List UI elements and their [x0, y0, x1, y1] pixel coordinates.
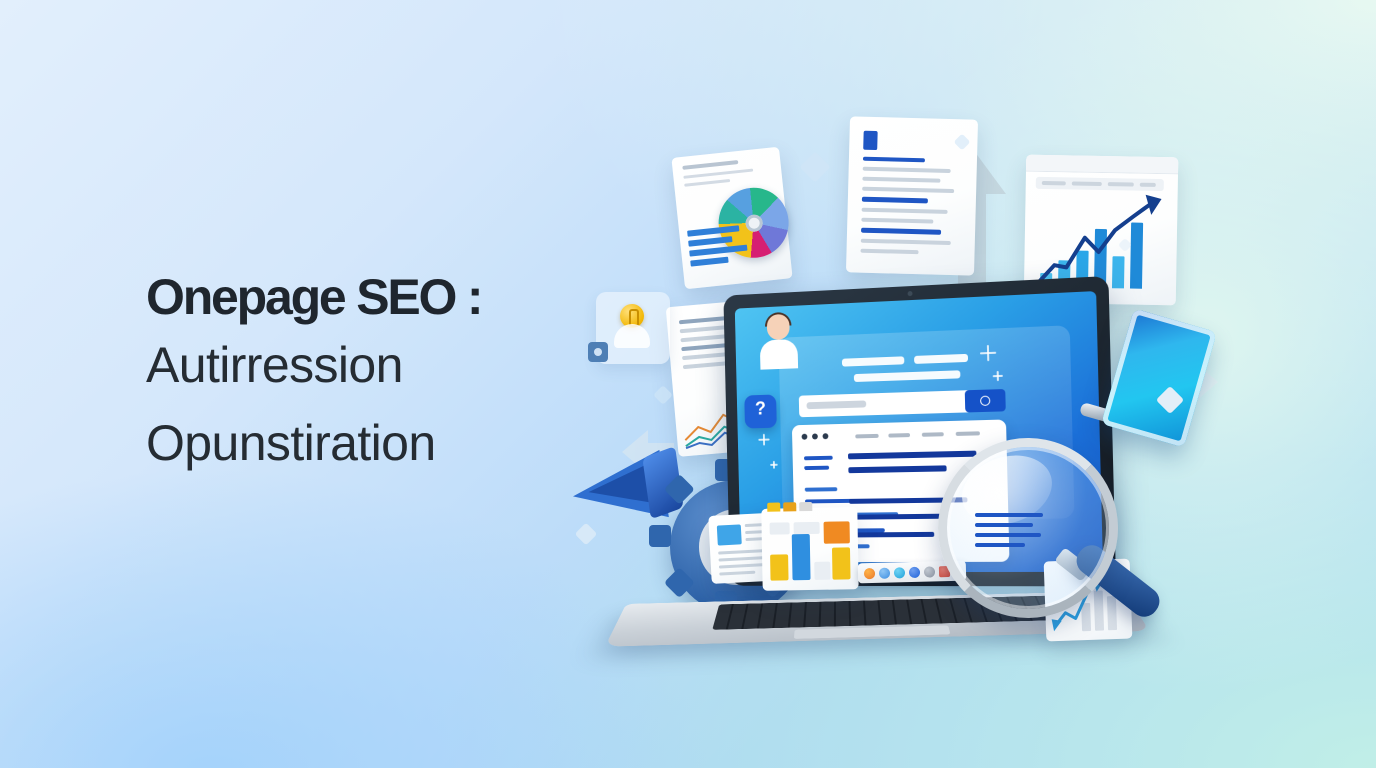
seo-banner: Onepage SEO : Autirression Opunstiration [0, 0, 1376, 768]
sparkle-icon [980, 345, 997, 362]
search-button[interactable] [965, 389, 1006, 413]
pie-chart-document [671, 147, 792, 290]
window-dots [802, 433, 829, 440]
sparkle-icon [993, 371, 1003, 381]
magnifier-lens [938, 438, 1118, 618]
chrome-icon[interactable] [879, 567, 890, 578]
trackpad[interactable] [794, 625, 951, 639]
edge-icon[interactable] [894, 567, 905, 578]
sparkle-icon [758, 434, 770, 446]
app-icon[interactable] [924, 566, 935, 577]
sparkle-icon [770, 461, 778, 469]
headline-line-2: Autirression [146, 326, 666, 404]
document-bars [687, 225, 749, 271]
magnified-lines [975, 513, 1047, 553]
webcam-icon [907, 291, 912, 296]
palette-tabs [767, 502, 812, 512]
diamond-icon [799, 151, 830, 182]
question-badge-icon [744, 394, 777, 428]
headline-block: Onepage SEO : Autirression Opunstiration [146, 268, 666, 482]
magnifying-glass-icon [938, 438, 1168, 668]
headline-line-1: Onepage SEO : [146, 268, 666, 326]
headline-line-3: Opunstiration [146, 404, 666, 482]
firefox-icon[interactable] [864, 567, 875, 578]
globe-icon[interactable] [909, 566, 920, 577]
palette-chart-card [761, 507, 858, 591]
